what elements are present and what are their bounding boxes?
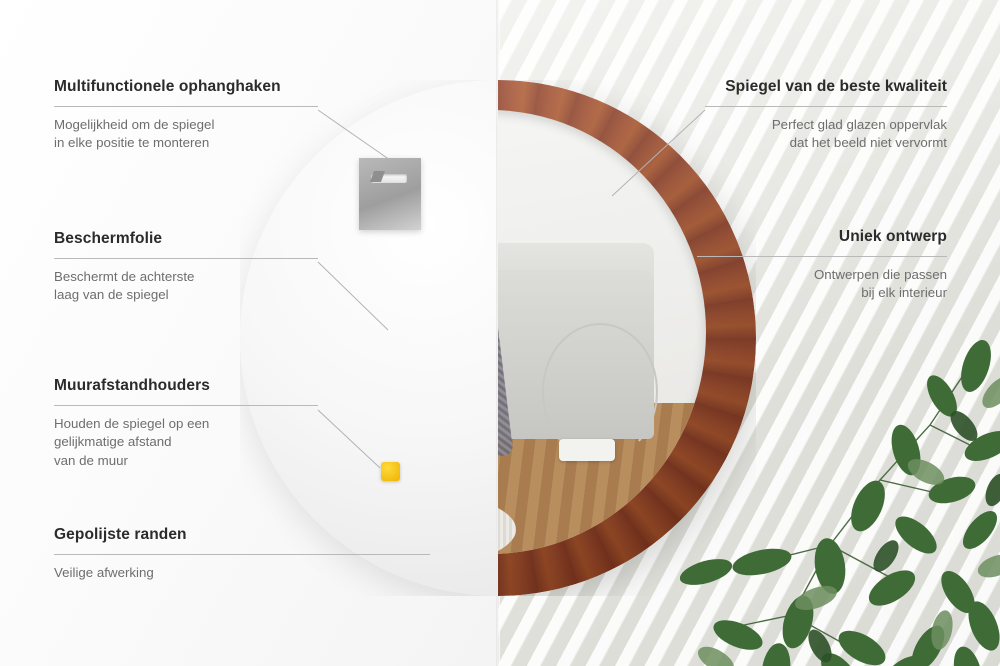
callout-rule [705,106,947,107]
callout-title: Uniek ontwerp [697,228,947,247]
callout-beschermfolie: Beschermfolie Beschermt de achterste laa… [54,230,318,305]
callout-description: Mogelijkheid om de spiegel in elke posit… [54,116,318,154]
reflected-floor-lamp-base [559,439,615,461]
callout-title: Gepolijste randen [54,526,430,545]
callout-rule [54,554,430,555]
callout-beste-kwaliteit: Spiegel van de beste kwaliteit Perfect g… [705,78,947,153]
callout-description: Beschermt de achterste laag van de spieg… [54,268,318,306]
callout-title: Multifunctionele ophanghaken [54,78,318,97]
callout-muurafstandhouders: Muurafstandhouders Houden de spiegel op … [54,377,318,471]
callout-rule [54,258,318,259]
callout-rule [54,106,318,107]
callout-description: Veilige afwerking [54,564,430,583]
callout-title: Spiegel van de beste kwaliteit [705,78,947,97]
callout-rule [54,405,318,406]
callout-title: Beschermfolie [54,230,318,249]
callout-description: Perfect glad glazen oppervlak dat het be… [705,116,947,154]
callout-title: Muurafstandhouders [54,377,318,396]
hanging-hook-plate [359,158,421,230]
callout-rule [697,256,947,257]
eucalyptus-foliage [680,330,1000,666]
callout-uniek-ontwerp: Uniek ontwerp Ontwerpen die passen bij e… [697,228,947,303]
callout-ophanghaken: Multifunctionele ophanghaken Mogelijkhei… [54,78,318,153]
callout-description: Houden de spiegel op een gelijkmatige af… [54,415,318,472]
wall-spacer [381,462,400,481]
callout-description: Ontwerpen die passen bij elk interieur [697,266,947,304]
infographic-canvas: Multifunctionele ophanghaken Mogelijkhei… [0,0,1000,666]
callout-gepolijste-randen: Gepolijste randen Veilige afwerking [54,526,430,582]
